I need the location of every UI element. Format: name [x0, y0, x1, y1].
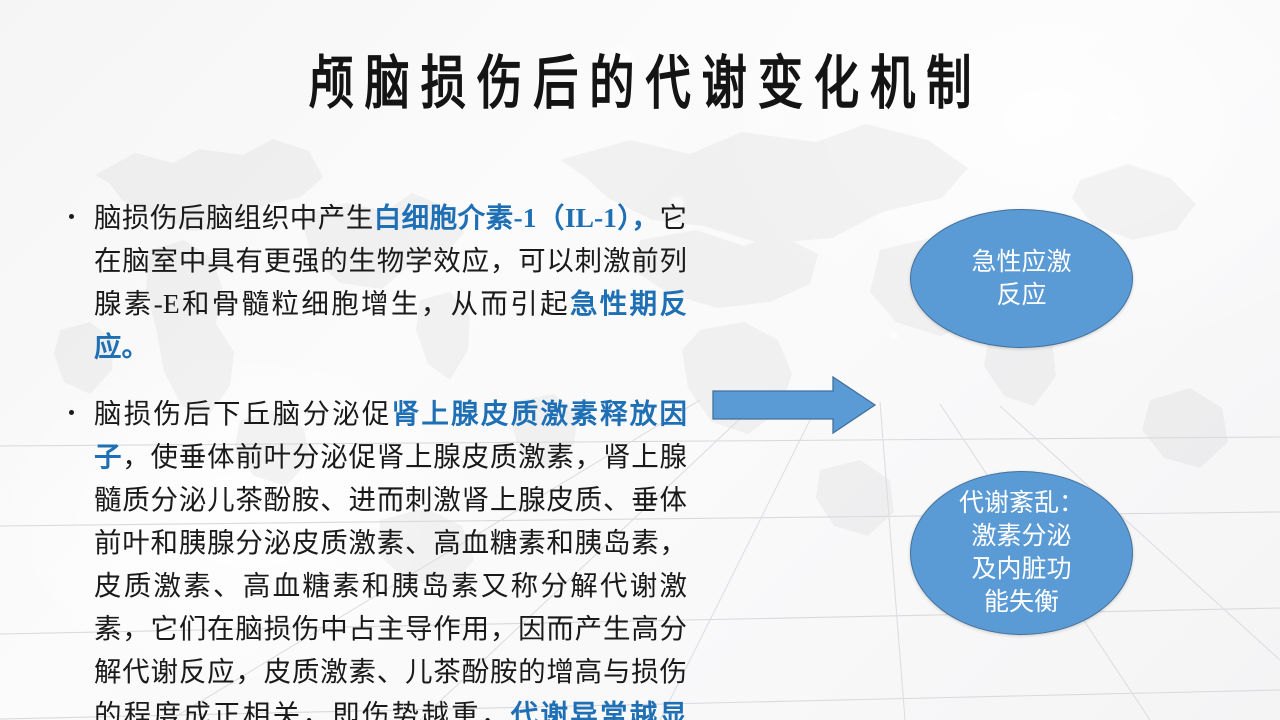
bullet-item: 脑损伤后下丘脑分泌促肾上腺皮质激素释放因子，使垂体前叶分泌促肾上腺皮质激素，肾上…: [62, 392, 687, 720]
bullet-2-seg-3: ，使垂体前叶分泌促肾上腺皮质激素，肾上腺髓质分泌儿茶酚胺、进而刺激肾上腺皮质、垂…: [94, 441, 687, 720]
bullet-item: 脑损伤后脑组织中产生白细胞介素-1（IL-1），它在脑室中具有更强的生物学效应，…: [62, 196, 687, 368]
bullet-dot-icon: [69, 410, 74, 415]
presentation-slide: 颅脑损伤后的代谢变化机制 脑损伤后脑组织中产生白细胞介素-1（IL-1），它在脑…: [0, 0, 1280, 720]
body-text-column: 脑损伤后脑组织中产生白细胞介素-1（IL-1），它在脑室中具有更强的生物学效应，…: [62, 196, 687, 720]
bullet-1-seg-1: 脑损伤后脑组织中产生: [94, 202, 374, 233]
ellipse-acute-stress[interactable]: 急性应激 反应: [910, 209, 1133, 348]
ellipse-metabolic-line-2: 激素分泌: [959, 520, 1084, 553]
ellipse-acute-line-1: 急性应激: [971, 246, 1071, 279]
bullet-2-seg-1: 脑损伤后下丘脑分泌促: [94, 398, 392, 429]
ellipse-metabolic-line-4: 能失衡: [959, 586, 1084, 619]
bullet-1-seg-2-highlight: 白细胞介素-1（IL-1），: [374, 202, 660, 233]
right-arrow-icon: [710, 374, 878, 436]
ellipse-acute-line-2: 反应: [971, 279, 1071, 312]
bullet-dot-icon: [69, 214, 74, 219]
ellipse-metabolic-line-3: 及内脏功: [959, 553, 1084, 586]
slide-title: 颅脑损伤后的代谢变化机制: [141, 48, 1139, 120]
ellipse-metabolic-disorder[interactable]: 代谢紊乱： 激素分泌 及内脏功 能失衡: [910, 471, 1133, 635]
ellipse-metabolic-line-1: 代谢紊乱：: [959, 487, 1084, 520]
